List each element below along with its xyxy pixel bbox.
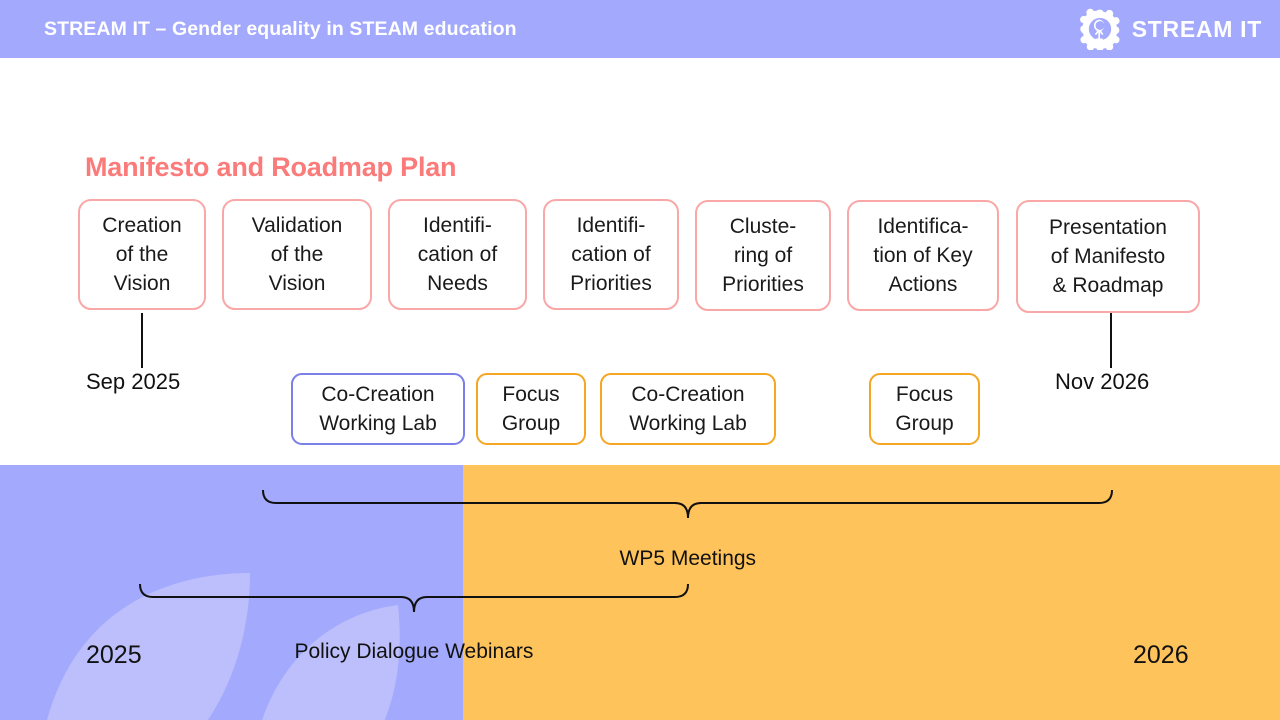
timeline-start-tick <box>141 313 143 368</box>
brace-group <box>0 0 1280 720</box>
timeline-end-tick <box>1110 313 1112 368</box>
band-year-left: 2025 <box>86 641 142 670</box>
brace-label: WP5 Meetings <box>620 547 757 571</box>
brace-label: Policy Dialogue Webinars <box>295 640 534 664</box>
brace-shape <box>263 490 1112 518</box>
brace-shape <box>140 584 688 612</box>
timeline-start-label: Sep 2025 <box>86 369 180 395</box>
band-year-right: 2026 <box>1133 641 1189 670</box>
timeline-end-label: Nov 2026 <box>1055 369 1149 395</box>
